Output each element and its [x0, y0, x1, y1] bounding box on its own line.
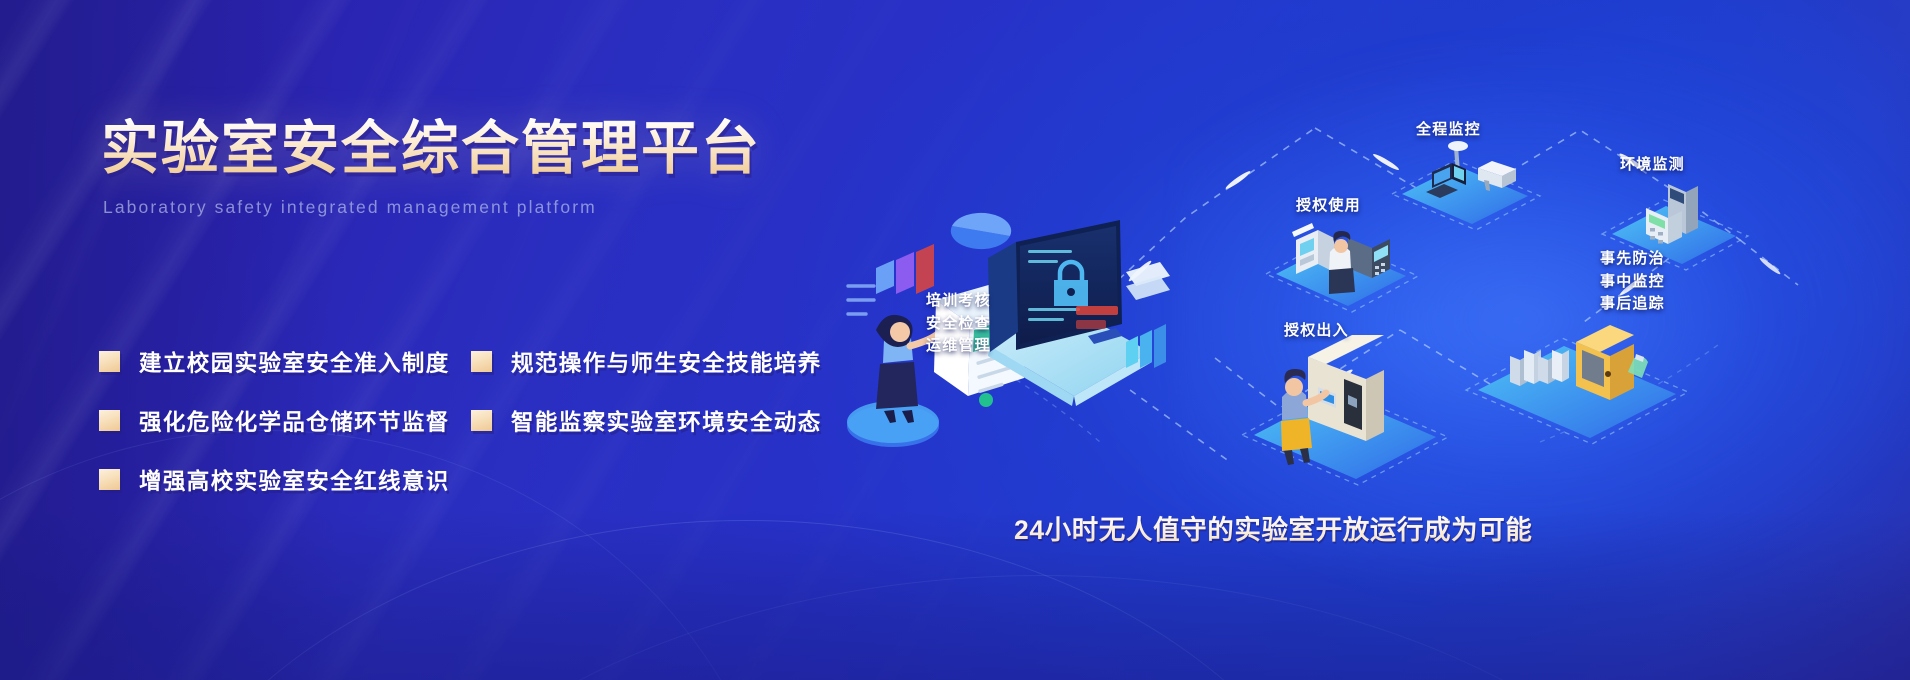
list-item: 建立校园实验室安全准入制度: [99, 332, 471, 391]
bullet-label: 智能监察实验室环境安全动态: [511, 405, 822, 437]
page-title: 实验室安全综合管理平台: [101, 118, 931, 181]
node-auth-use-label: 授权使用: [1296, 195, 1361, 217]
square-marker-icon: [471, 410, 492, 431]
diagram-tagline: 24小时无人值守的实验室开放运行成为可能: [1014, 508, 1532, 547]
list-item: 规范操作与师生安全技能培养: [471, 332, 843, 391]
hero-text-block: 实验室安全综合管理平台 Laboratory safety integrated…: [101, 118, 931, 218]
square-marker-icon: [99, 410, 120, 431]
bullet-label: 建立校园实验室安全准入制度: [139, 346, 450, 378]
video-surveillance-icon: [1380, 130, 1560, 250]
node-prevention-illustration: [1452, 300, 1702, 450]
banner-root: 实验室安全综合管理平台 Laboratory safety integrated…: [0, 0, 1910, 680]
node-full-monitor-illustration: [1380, 130, 1560, 250]
list-item: 智能监察实验室环境安全动态: [471, 391, 843, 450]
node-auth-access-illustration: [1230, 335, 1460, 495]
bullet-label: 增强高校实验室安全红线意识: [139, 464, 450, 496]
list-item: 强化危险化学品仓储环节监督: [99, 391, 471, 450]
node-env-monitor-label: 环境监测: [1620, 154, 1685, 176]
node-training-label: 培训考核安全检查运维管理: [926, 290, 991, 358]
page-subtitle: Laboratory safety integrated management …: [103, 197, 931, 218]
square-marker-icon: [99, 351, 120, 372]
node-training-illustration: [840, 190, 1170, 450]
square-marker-icon: [99, 469, 120, 490]
training-scene-icon: [840, 190, 1170, 450]
node-prevention-label: 事先防治事中监控事后追踪: [1600, 248, 1665, 316]
feature-bullet-list: 建立校园实验室安全准入制度 规范操作与师生安全技能培养 强化危险化学品仓储环节监…: [99, 332, 919, 509]
access-control-door-icon: [1230, 335, 1460, 495]
chemical-cabinet-icon: [1452, 300, 1702, 450]
list-item: 增强高校实验室安全红线意识: [99, 450, 471, 509]
node-auth-access-label: 授权出入: [1284, 320, 1349, 342]
bullet-label: 规范操作与师生安全技能培养: [511, 346, 822, 378]
node-full-monitor-label: 全程监控: [1416, 119, 1481, 141]
square-marker-icon: [471, 351, 492, 372]
bullet-label: 强化危险化学品仓储环节监督: [139, 405, 450, 437]
